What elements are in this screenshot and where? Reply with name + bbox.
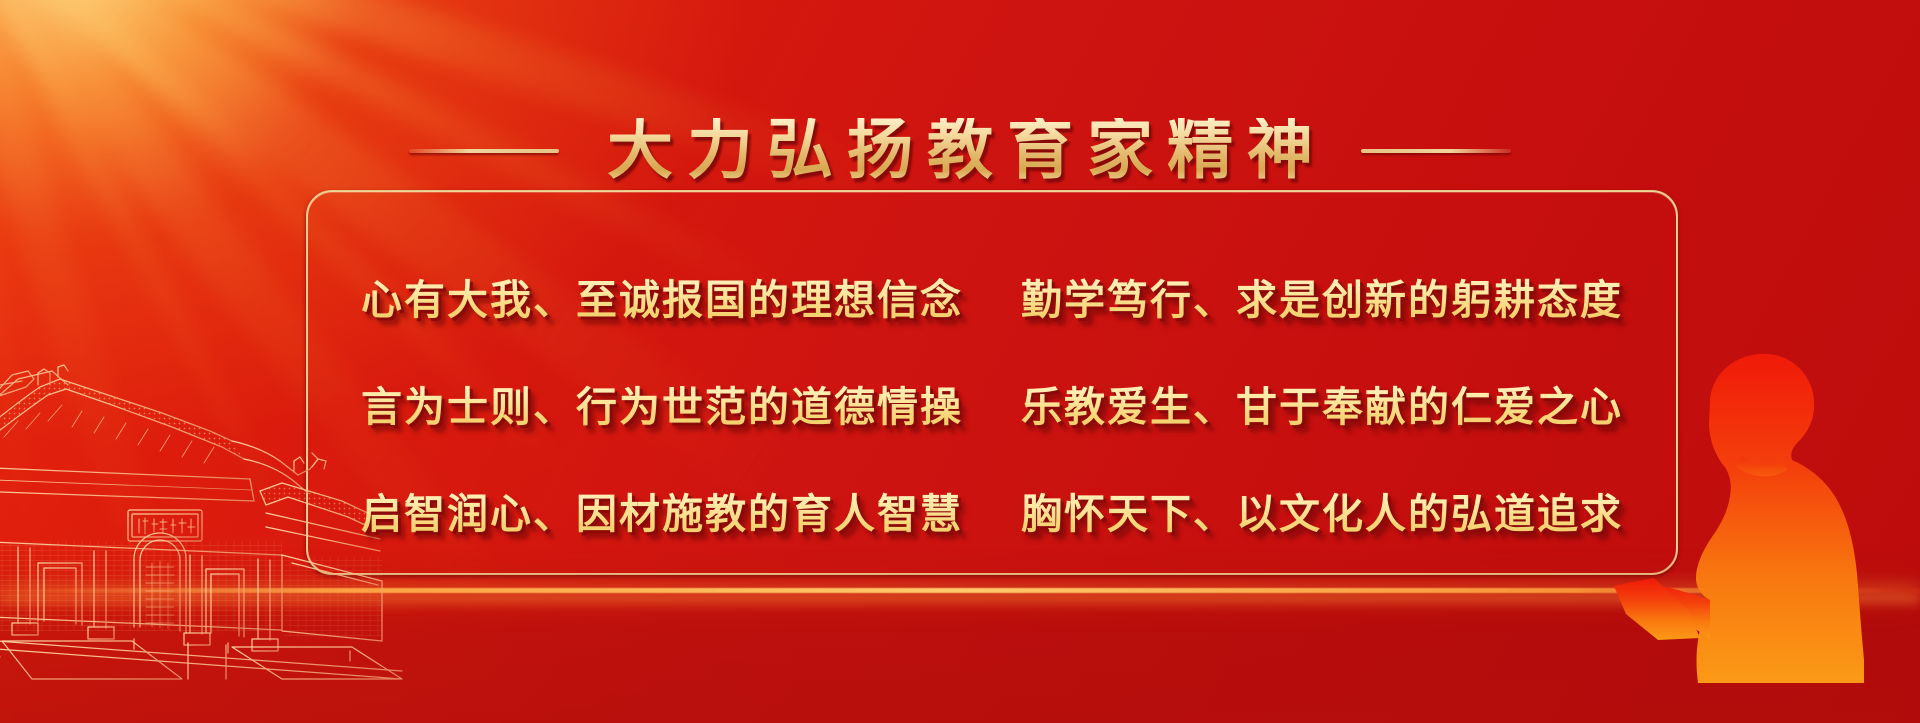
slogan-text: 胸怀天下、以文化人的弘道追求 xyxy=(1021,480,1623,540)
light-ray xyxy=(0,0,280,723)
bottom-glow-line-soft xyxy=(0,595,1920,611)
education-spirit-banner: 大力弘扬教育家精神 心有大我、至诚报国的理想信念 勤学笃行、求是创新的躬耕态度 … xyxy=(0,0,1920,723)
bottom-glow-line xyxy=(0,588,1920,593)
title-dash-left-icon xyxy=(409,149,559,153)
slogan-text: 乐教爱生、甘于奉献的仁爱之心 xyxy=(1021,373,1623,433)
banner-title: 大力弘扬教育家精神 xyxy=(593,118,1327,184)
slogan-text: 勤学笃行、求是创新的躬耕态度 xyxy=(1021,266,1623,326)
slogan-text: 言为士则、行为世范的道德情操 xyxy=(361,373,963,433)
banner-title-row: 大力弘扬教育家精神 xyxy=(0,118,1920,184)
light-ray xyxy=(0,0,930,29)
slogan-grid: 心有大我、至诚报国的理想信念 勤学笃行、求是创新的躬耕态度 言为士则、行为世范的… xyxy=(306,225,1678,575)
slogan-text: 心有大我、至诚报国的理想信念 xyxy=(361,266,963,326)
light-ray xyxy=(0,0,65,723)
slogan-text: 启智润心、因材施教的育人智慧 xyxy=(361,480,963,540)
title-dash-right-icon xyxy=(1361,149,1511,153)
